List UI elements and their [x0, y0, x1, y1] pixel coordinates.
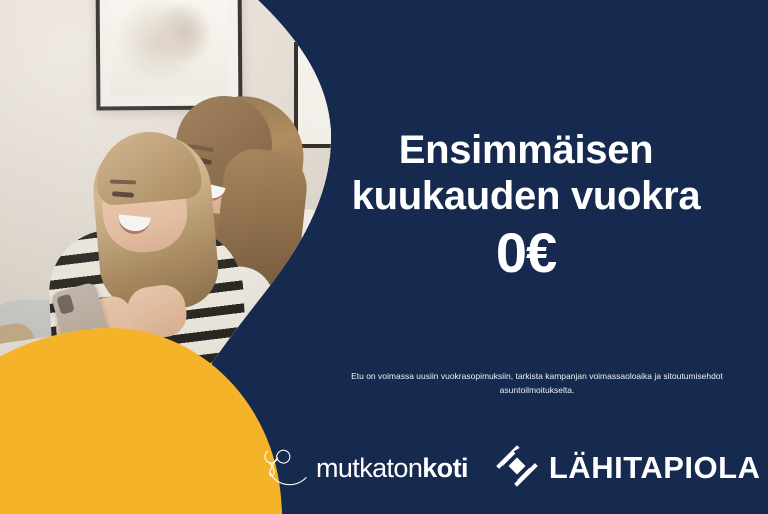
- mutkatonkoti-word-light: mutkaton: [316, 453, 422, 483]
- lahitapiola-logo[interactable]: LÄHITAPIOLA: [494, 443, 761, 494]
- heart-pin-icon: [258, 439, 310, 498]
- logo-row: mutkatonkoti LÄHITAPIOLA: [258, 436, 758, 500]
- promo-banner: Ensimmäisen kuukauden vuokra 0€ Etu on v…: [0, 0, 768, 514]
- headline-price: 0€: [300, 223, 752, 282]
- yellow-accent-shape: [0, 316, 291, 514]
- mutkatonkoti-logo[interactable]: mutkatonkoti: [258, 439, 468, 498]
- mutkatonkoti-wordmark: mutkatonkoti: [316, 453, 468, 484]
- wall-art-frame: [96, 0, 243, 111]
- mutkatonkoti-word-bold: koti: [422, 453, 468, 483]
- woman-left-brow: [110, 180, 136, 185]
- page-title: Ensimmäisen kuukauden vuokra 0€: [300, 128, 752, 283]
- lahitapiola-wordmark: LÄHITAPIOLA: [549, 450, 761, 486]
- wall-art-brushstroke: [159, 11, 184, 68]
- headline-line-1: Ensimmäisen: [300, 128, 752, 174]
- headline-line-2: kuukauden vuokra: [300, 174, 752, 220]
- terms-fineprint: Etu on voimassa uusiin vuokrasopimuksiin…: [322, 369, 752, 397]
- lahitapiola-diamond-icon: [494, 443, 540, 494]
